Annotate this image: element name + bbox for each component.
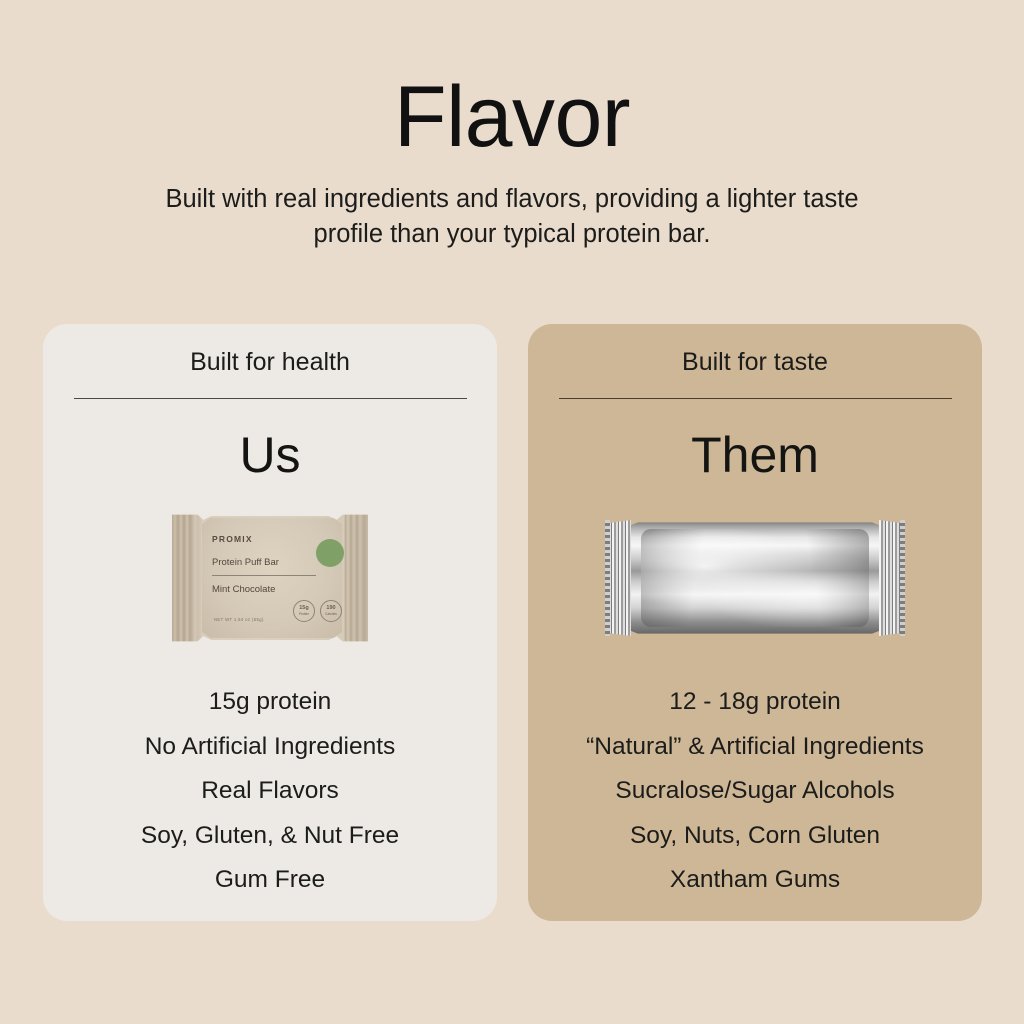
promix-flavor-label: Mint Chocolate xyxy=(212,584,334,595)
promix-net-weight: NET WT 1.94 oz (55g) xyxy=(214,617,264,622)
comparison-cards: Built for health Us PROMIX Protein Puff … xyxy=(43,324,982,921)
promix-product-label: Protein Puff Bar xyxy=(212,557,334,568)
calories-badge-value: 190 xyxy=(326,606,335,612)
list-item: Sucralose/Sugar Alcohols xyxy=(528,769,982,814)
card-us-product-image: PROMIX Protein Puff Bar Mint Chocolate N… xyxy=(43,498,497,658)
promix-brand-label: PROMIX xyxy=(212,534,334,544)
calories-badge: 190 Calories xyxy=(320,600,342,622)
list-item: Soy, Nuts, Corn Gluten xyxy=(528,814,982,859)
foil-wrapper-sheen xyxy=(641,529,869,626)
promix-nutrition-badges: 15g Protein 190 Calories xyxy=(293,600,342,622)
protein-badge-value: 15g xyxy=(299,606,308,612)
mint-accent-dot-icon xyxy=(316,539,344,567)
foil-bar-wrapper xyxy=(605,520,905,636)
card-them: Built for taste Them 12 - 18g protein “N… xyxy=(528,324,982,921)
list-item: “Natural” & Artificial Ingredients xyxy=(528,725,982,770)
list-item: No Artificial Ingredients xyxy=(43,725,497,770)
card-them-name: Them xyxy=(528,430,982,480)
card-us-name: Us xyxy=(43,430,497,480)
list-item: Xantham Gums xyxy=(528,858,982,903)
list-item: Gum Free xyxy=(43,858,497,903)
card-them-feature-list: 12 - 18g protein “Natural” & Artificial … xyxy=(528,680,982,903)
protein-badge-label: Protein xyxy=(299,613,309,616)
card-them-product-image xyxy=(528,498,982,658)
foil-teeth-right xyxy=(900,520,905,636)
page-title: Flavor xyxy=(0,74,1024,160)
card-us-header: Built for health xyxy=(43,324,497,375)
foil-teeth-left xyxy=(605,520,610,636)
promix-label-text: PROMIX Protein Puff Bar Mint Chocolate xyxy=(212,534,334,595)
card-us-feature-list: 15g protein No Artificial Ingredients Re… xyxy=(43,680,497,903)
promix-label-rule xyxy=(212,575,316,576)
list-item: 12 - 18g protein xyxy=(528,680,982,725)
promix-bar-wrapper: PROMIX Protein Puff Bar Mint Chocolate N… xyxy=(172,512,368,644)
card-us: Built for health Us PROMIX Protein Puff … xyxy=(43,324,497,921)
list-item: 15g protein xyxy=(43,680,497,725)
list-item: Real Flavors xyxy=(43,769,497,814)
page-subtitle: Built with real ingredients and flavors,… xyxy=(162,182,862,251)
calories-badge-label: Calories xyxy=(325,613,337,616)
protein-badge: 15g Protein xyxy=(293,600,315,622)
card-them-divider xyxy=(559,398,952,399)
card-us-divider xyxy=(74,398,467,399)
page-header: Flavor Built with real ingredients and f… xyxy=(0,74,1024,251)
list-item: Soy, Gluten, & Nut Free xyxy=(43,814,497,859)
card-them-header: Built for taste xyxy=(528,324,982,375)
